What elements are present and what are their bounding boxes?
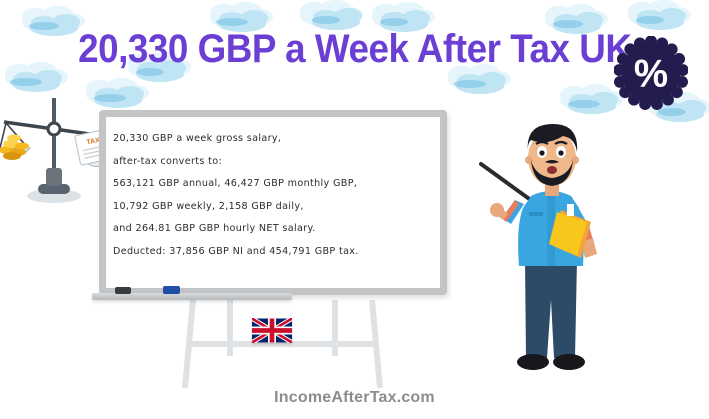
whiteboard-stand	[175, 296, 390, 391]
site-name: IncomeAfterTax.com	[274, 389, 435, 406]
teacher-illustration	[475, 100, 625, 390]
footer: IncomeAfterTax.com	[0, 389, 709, 407]
percent-symbol: %	[634, 52, 668, 95]
eraser-icon	[115, 287, 131, 294]
whiteboard-line-1: 20,330 GBP a week gross salary,	[113, 128, 437, 151]
whiteboard-line-6: Deducted: 37,856 GBP NI and 454,791 GBP …	[113, 241, 437, 264]
page-title: 20,330 GBP a Week After Tax UK	[78, 27, 631, 72]
page-title-bar: 20,330 GBP a Week After Tax UK	[0, 18, 709, 80]
whiteboard: 20,330 GBP a week gross salary, after-ta…	[99, 110, 447, 295]
gold-coins-icon	[0, 135, 29, 161]
uk-flag	[252, 318, 292, 343]
percent-badge: %	[614, 36, 688, 110]
whiteboard-text: 20,330 GBP a week gross salary, after-ta…	[113, 128, 437, 263]
whiteboard-line-4: 10,792 GBP weekly, 2,158 GBP daily,	[113, 196, 437, 219]
blue-marker-icon	[163, 286, 180, 294]
whiteboard-tray	[92, 293, 292, 300]
whiteboard-line-2: after-tax converts to:	[113, 151, 437, 174]
whiteboard-line-3: 563,121 GBP annual, 46,427 GBP monthly G…	[113, 173, 437, 196]
whiteboard-line-5: and 264.81 GBP GBP hourly NET salary.	[113, 218, 437, 241]
